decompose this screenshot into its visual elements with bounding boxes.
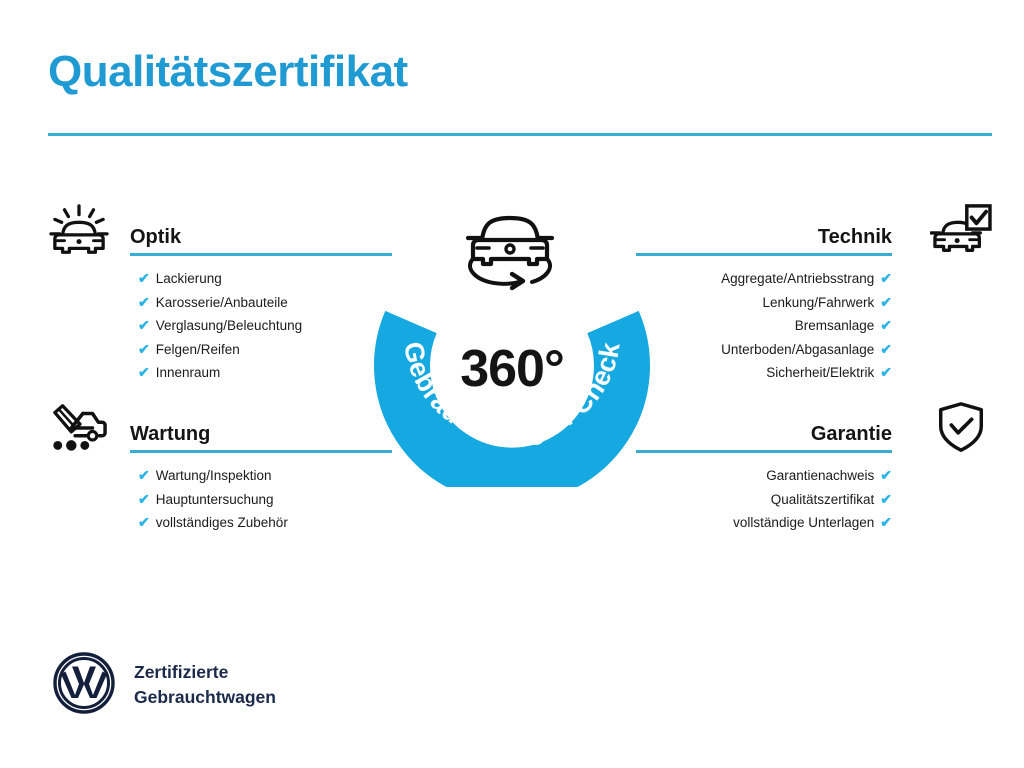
check-icon: ✔ [138,464,150,488]
footer-brand-line2: Gebrauchtwagen [134,685,276,710]
list-item-label: Verglasung/Beleuchtung [156,314,302,338]
car-checkbox-icon [930,203,992,259]
garantie-check-list: Garantienachweis✔ Qualitätszertifikat✔ v… [636,464,892,535]
shield-check-icon [930,400,992,456]
check-icon: ✔ [880,267,892,291]
list-item: ✔Karosserie/Anbauteile [138,291,392,315]
header-divider [48,133,992,136]
check-icon: ✔ [880,464,892,488]
shiny-car-front-icon [48,203,110,259]
section-technik-header: Technik [636,203,992,263]
list-item: Unterboden/Abgasanlage✔ [636,338,892,362]
section-optik-underline [130,253,392,256]
list-item: ✔Innenraum [138,361,392,385]
list-item: ✔Felgen/Reifen [138,338,392,362]
list-item: Aggregate/Antriebsstrang✔ [636,267,892,291]
list-item-label: Wartung/Inspektion [156,464,272,488]
check-icon: ✔ [880,314,892,338]
section-garantie-title: Garantie [811,423,892,446]
list-item-label: Felgen/Reifen [156,338,240,362]
quality-certificate-page: Qualitätszertifikat [0,0,1024,768]
list-item-label: vollständige Unterlagen [733,511,874,535]
list-item: ✔Verglasung/Beleuchtung [138,314,392,338]
check-icon: ✔ [138,291,150,315]
section-technik-underline [636,253,892,256]
list-item-label: vollständiges Zubehör [156,511,288,535]
footer-brand: Zertifizierte Gebrauchtwagen [52,648,372,724]
badge-degrees-label: 360° [373,339,651,399]
check-icon: ✔ [138,488,150,512]
list-item-label: Hauptuntersuchung [156,488,274,512]
optik-check-list: ✔Lackierung ✔Karosserie/Anbauteile ✔Verg… [138,267,392,385]
list-item: ✔vollständiges Zubehör [138,511,392,535]
footer-brand-line1: Zertifizierte [134,660,276,685]
list-item-label: Aggregate/Antriebsstrang [721,267,874,291]
check-icon: ✔ [138,338,150,362]
check-icon: ✔ [138,267,150,291]
list-item-label: Lackierung [156,267,222,291]
car-rotation-icon [456,196,564,296]
list-item-label: Bremsanlage [795,314,875,338]
check-icon: ✔ [880,511,892,535]
section-wartung-underline [130,450,392,453]
section-wartung-header: Wartung [48,400,392,460]
list-item-label: Sicherheit/Elektrik [766,361,874,385]
section-optik-title: Optik [130,226,181,249]
list-item: Lenkung/Fahrwerk✔ [636,291,892,315]
section-garantie: Garantie Garantienachweis✔ Qualitätszert… [636,400,992,535]
check-icon: ✔ [880,488,892,512]
page-title: Qualitätszertifikat [48,48,408,96]
list-item: ✔Hauptuntersuchung [138,488,392,512]
list-item-label: Unterboden/Abgasanlage [721,338,874,362]
list-item-label: Innenraum [156,361,221,385]
list-item-label: Qualitätszertifikat [771,488,875,512]
section-garantie-underline [636,450,892,453]
section-technik: Technik Aggregate/Antriebsstrang✔ Lenkun… [636,203,992,385]
section-technik-title: Technik [818,226,892,249]
footer-brand-text: Zertifizierte Gebrauchtwagen [134,660,276,710]
check-icon: ✔ [880,291,892,315]
check-icon: ✔ [880,338,892,362]
check-icon: ✔ [138,314,150,338]
list-item: Bremsanlage✔ [636,314,892,338]
list-item: Sicherheit/Elektrik✔ [636,361,892,385]
list-item: vollständige Unterlagen✔ [636,511,892,535]
section-garantie-header: Garantie [636,400,992,460]
check-icon: ✔ [880,361,892,385]
list-item-label: Garantienachweis [766,464,874,488]
volkswagen-logo-icon [52,651,116,715]
list-item-label: Lenkung/Fahrwerk [762,291,874,315]
check-icon: ✔ [138,511,150,535]
technik-check-list: Aggregate/Antriebsstrang✔ Lenkung/Fahrwe… [636,267,892,385]
list-item: Garantienachweis✔ [636,464,892,488]
list-item: ✔Lackierung [138,267,392,291]
section-wartung-title: Wartung [130,423,210,446]
section-optik-header: Optik [48,203,392,263]
list-item-label: Karosserie/Anbauteile [156,291,288,315]
section-wartung: Wartung ✔Wartung/Inspektion ✔Hauptunters… [48,400,392,535]
wartung-check-list: ✔Wartung/Inspektion ✔Hauptuntersuchung ✔… [138,464,392,535]
list-item: ✔Wartung/Inspektion [138,464,392,488]
section-optik: Optik ✔Lackierung ✔Karosserie/Anbauteile… [48,203,392,385]
check-icon: ✔ [138,361,150,385]
list-item: Qualitätszertifikat✔ [636,488,892,512]
service-pencil-car-icon [48,400,110,456]
